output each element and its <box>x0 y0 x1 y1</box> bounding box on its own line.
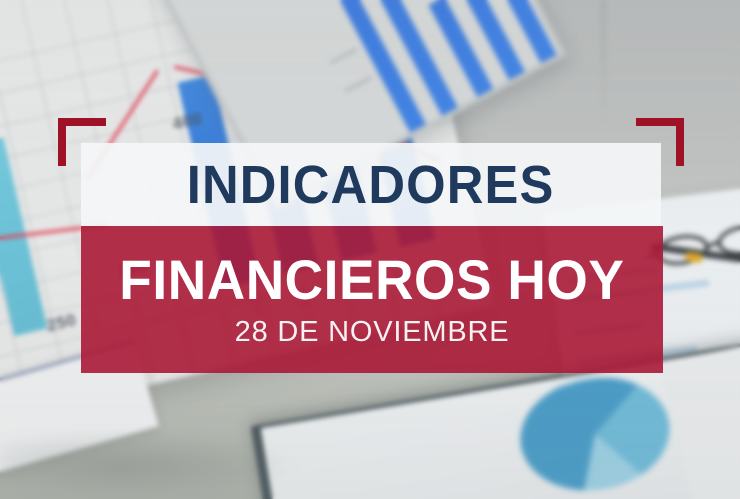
wall-seam <box>602 0 605 130</box>
page-title: INDICADORES <box>187 158 555 212</box>
date-label: 28 DE NOVIEMBRE <box>235 318 510 347</box>
headline-banner-red: FINANCIEROS HOY 28 DE NOVIEMBRE <box>81 226 663 373</box>
title-card: 400 410 280 250 Jan Feb Mar Abr <box>0 0 740 499</box>
page-subtitle-main: FINANCIEROS HOY <box>119 252 624 308</box>
desk-shadow <box>0 430 300 499</box>
headline-banner-white: INDICADORES <box>81 143 661 226</box>
